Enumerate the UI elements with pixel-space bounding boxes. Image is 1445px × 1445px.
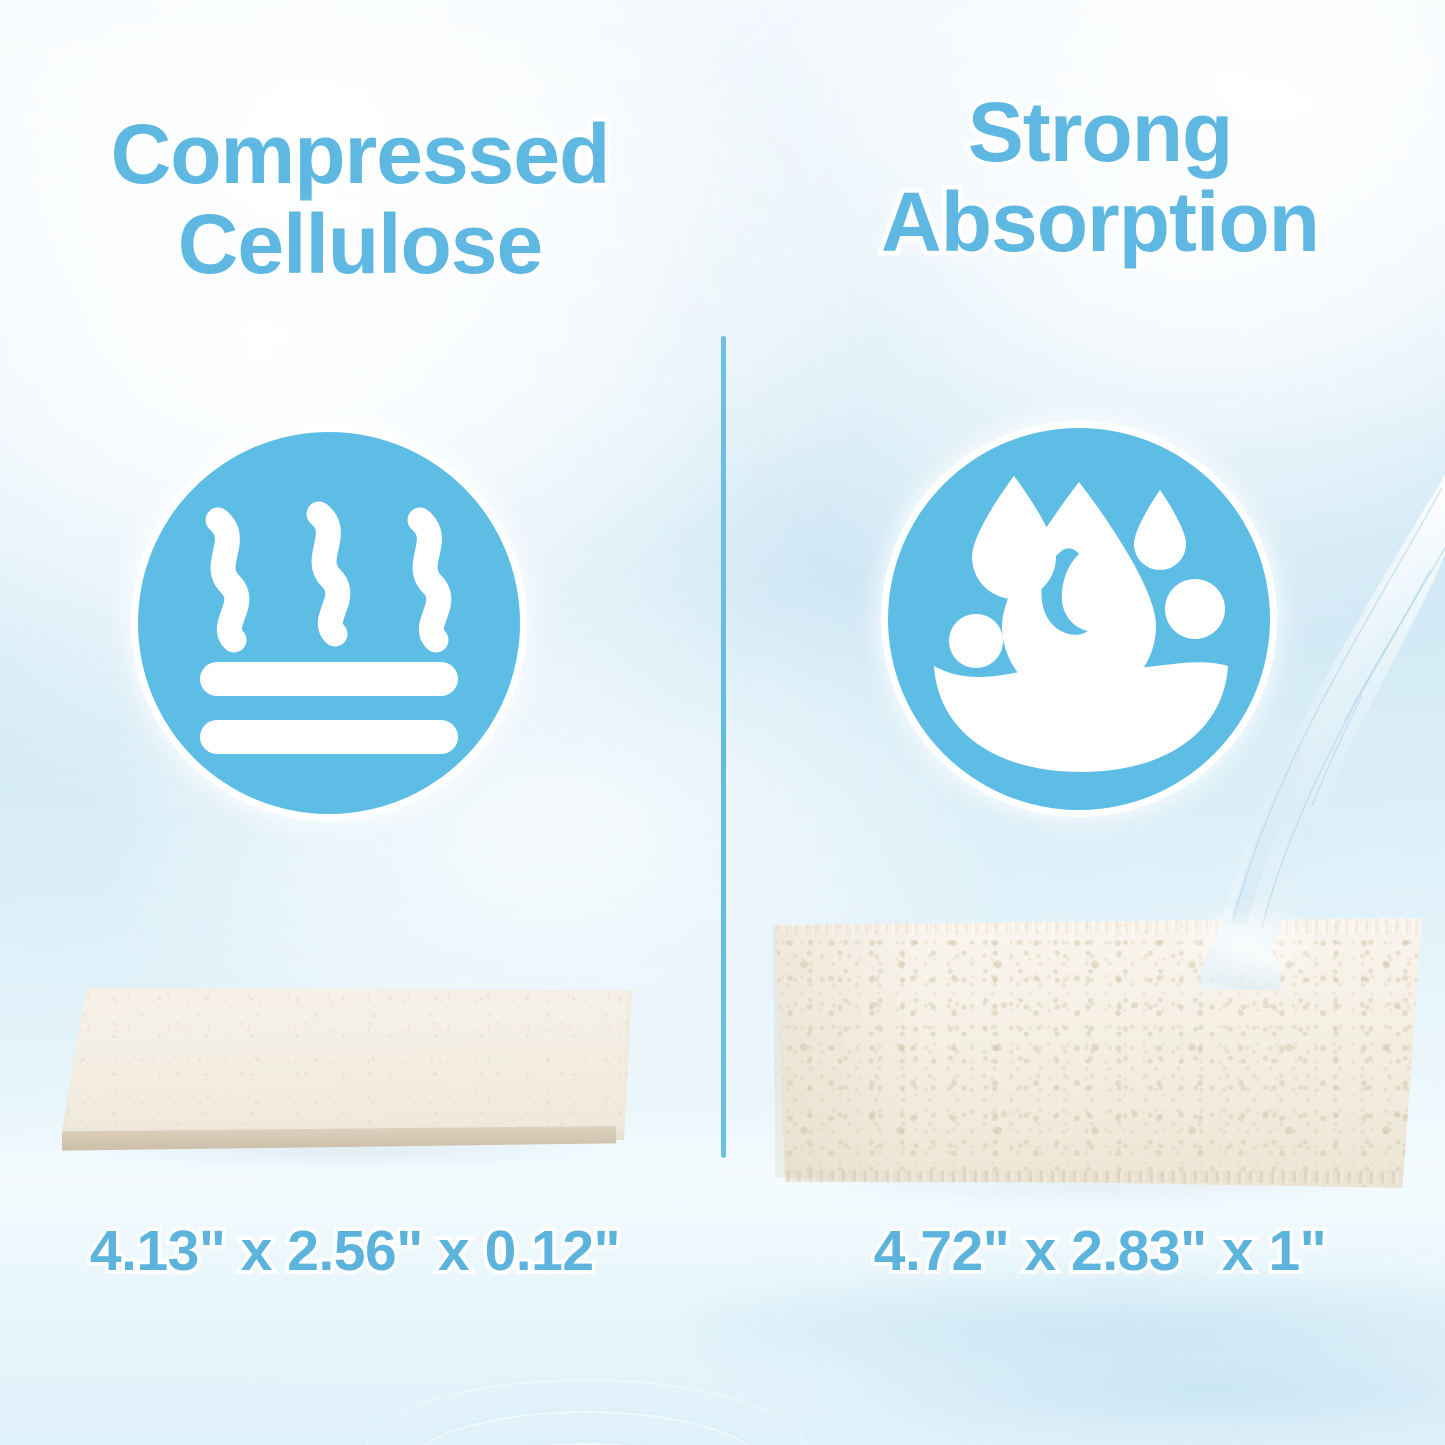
- compressed-layers-icon: [138, 432, 520, 814]
- water-droplet-absorption-icon: [888, 428, 1270, 810]
- steam-wave-2: [319, 514, 338, 634]
- compressed-bar-1: [200, 662, 458, 696]
- droplet-medium-left: [972, 476, 1056, 599]
- bubble-right: [1165, 579, 1225, 639]
- steam-wave-3: [420, 520, 439, 640]
- dimension-label-strong-absorption: 4.72" x 2.83" x 1": [790, 1218, 1410, 1284]
- droplet-small-right: [1134, 490, 1186, 570]
- water-splash-glow: [1168, 900, 1328, 990]
- compressed-bar-2: [200, 720, 458, 754]
- vertical-divider: [721, 336, 726, 1158]
- water-basin-wave: [934, 662, 1228, 772]
- infographic-canvas: Compressed Cellulose 4.13" x 2.56" x 0.1…: [0, 0, 1445, 1445]
- sponge-left-shading: [772, 918, 928, 1188]
- bubble-left: [949, 614, 1003, 668]
- water-ripples: [376, 1323, 796, 1445]
- sponge-grain-left: [62, 988, 632, 1140]
- thin-compressed-cellulose-sheet: [62, 988, 632, 1156]
- dimension-label-compressed-cellulose: 4.13" x 2.56" x 0.12": [15, 1218, 695, 1284]
- panel-heading-compressed-cellulose: Compressed Cellulose: [40, 110, 680, 290]
- steam-wave-1: [218, 520, 237, 640]
- panel-heading-strong-absorption: Strong Absorption: [770, 88, 1430, 268]
